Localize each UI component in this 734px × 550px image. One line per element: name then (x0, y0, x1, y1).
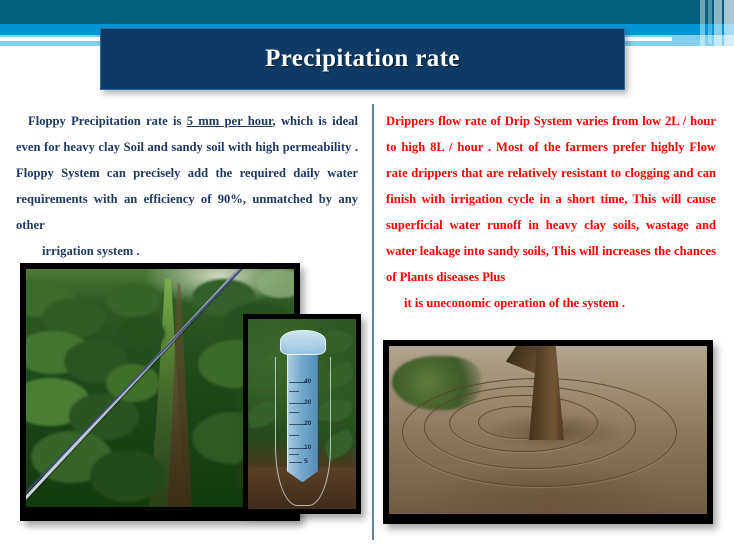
gauge-scale-tick (289, 391, 299, 392)
left-paragraph-last-line: irrigation system . (16, 238, 358, 264)
header-vertical-stripe-2 (708, 0, 712, 44)
header-vertical-stripe-4 (724, 0, 734, 58)
column-divider (372, 104, 374, 540)
left-paragraph-part-1: Floppy Precipitation rate is (16, 114, 187, 128)
left-paragraph-part-2: , which is ideal even for heavy clay Soi… (16, 114, 358, 232)
gauge-scale-tick (289, 435, 299, 436)
gauge-scale-label-10: 10 (304, 444, 311, 451)
drip-tree-photo-canvas (389, 346, 707, 514)
left-paragraph-emphasis: 5 mm per hour (187, 114, 273, 128)
gauge-scale-tick (289, 462, 302, 463)
right-paragraph-last-line: it is uneconomic operation of the system… (386, 290, 716, 316)
slide-title-banner: Precipitation rate (100, 28, 625, 90)
gauge-scale-label-30: 30 (304, 399, 311, 406)
header-vertical-stripe-1 (700, 0, 705, 47)
gauge-scale-label-20: 20 (304, 420, 311, 427)
right-column-paragraph: Drippers flow rate of Drip System varies… (386, 108, 716, 316)
gauge-scale-tick (289, 412, 299, 413)
orchard-canopy (106, 283, 160, 316)
left-column-paragraph: Floppy Precipitation rate is 5 mm per ho… (16, 108, 358, 264)
gauge-scale-label-40: 40 (304, 378, 311, 385)
rain-gauge-photo-canvas: 40 30 20 10 5 (248, 319, 356, 509)
orchard-canopy (256, 269, 294, 298)
right-paragraph-part-1: Drippers flow rate of Drip System varies… (386, 114, 716, 284)
drip-irrigation-tree-photo (383, 340, 713, 524)
header-band-teal (0, 0, 734, 24)
gauge-funnel (280, 330, 325, 355)
gauge-scale-label-5: 5 (304, 458, 308, 465)
rain-gauge-photo: 40 30 20 10 5 (243, 314, 361, 514)
orchard-canopy (90, 450, 165, 502)
orchard-canopy (117, 317, 165, 350)
page-title: Precipitation rate (265, 45, 460, 73)
header-vertical-stripe-3 (714, 0, 722, 52)
gauge-scale-tick (289, 454, 299, 455)
